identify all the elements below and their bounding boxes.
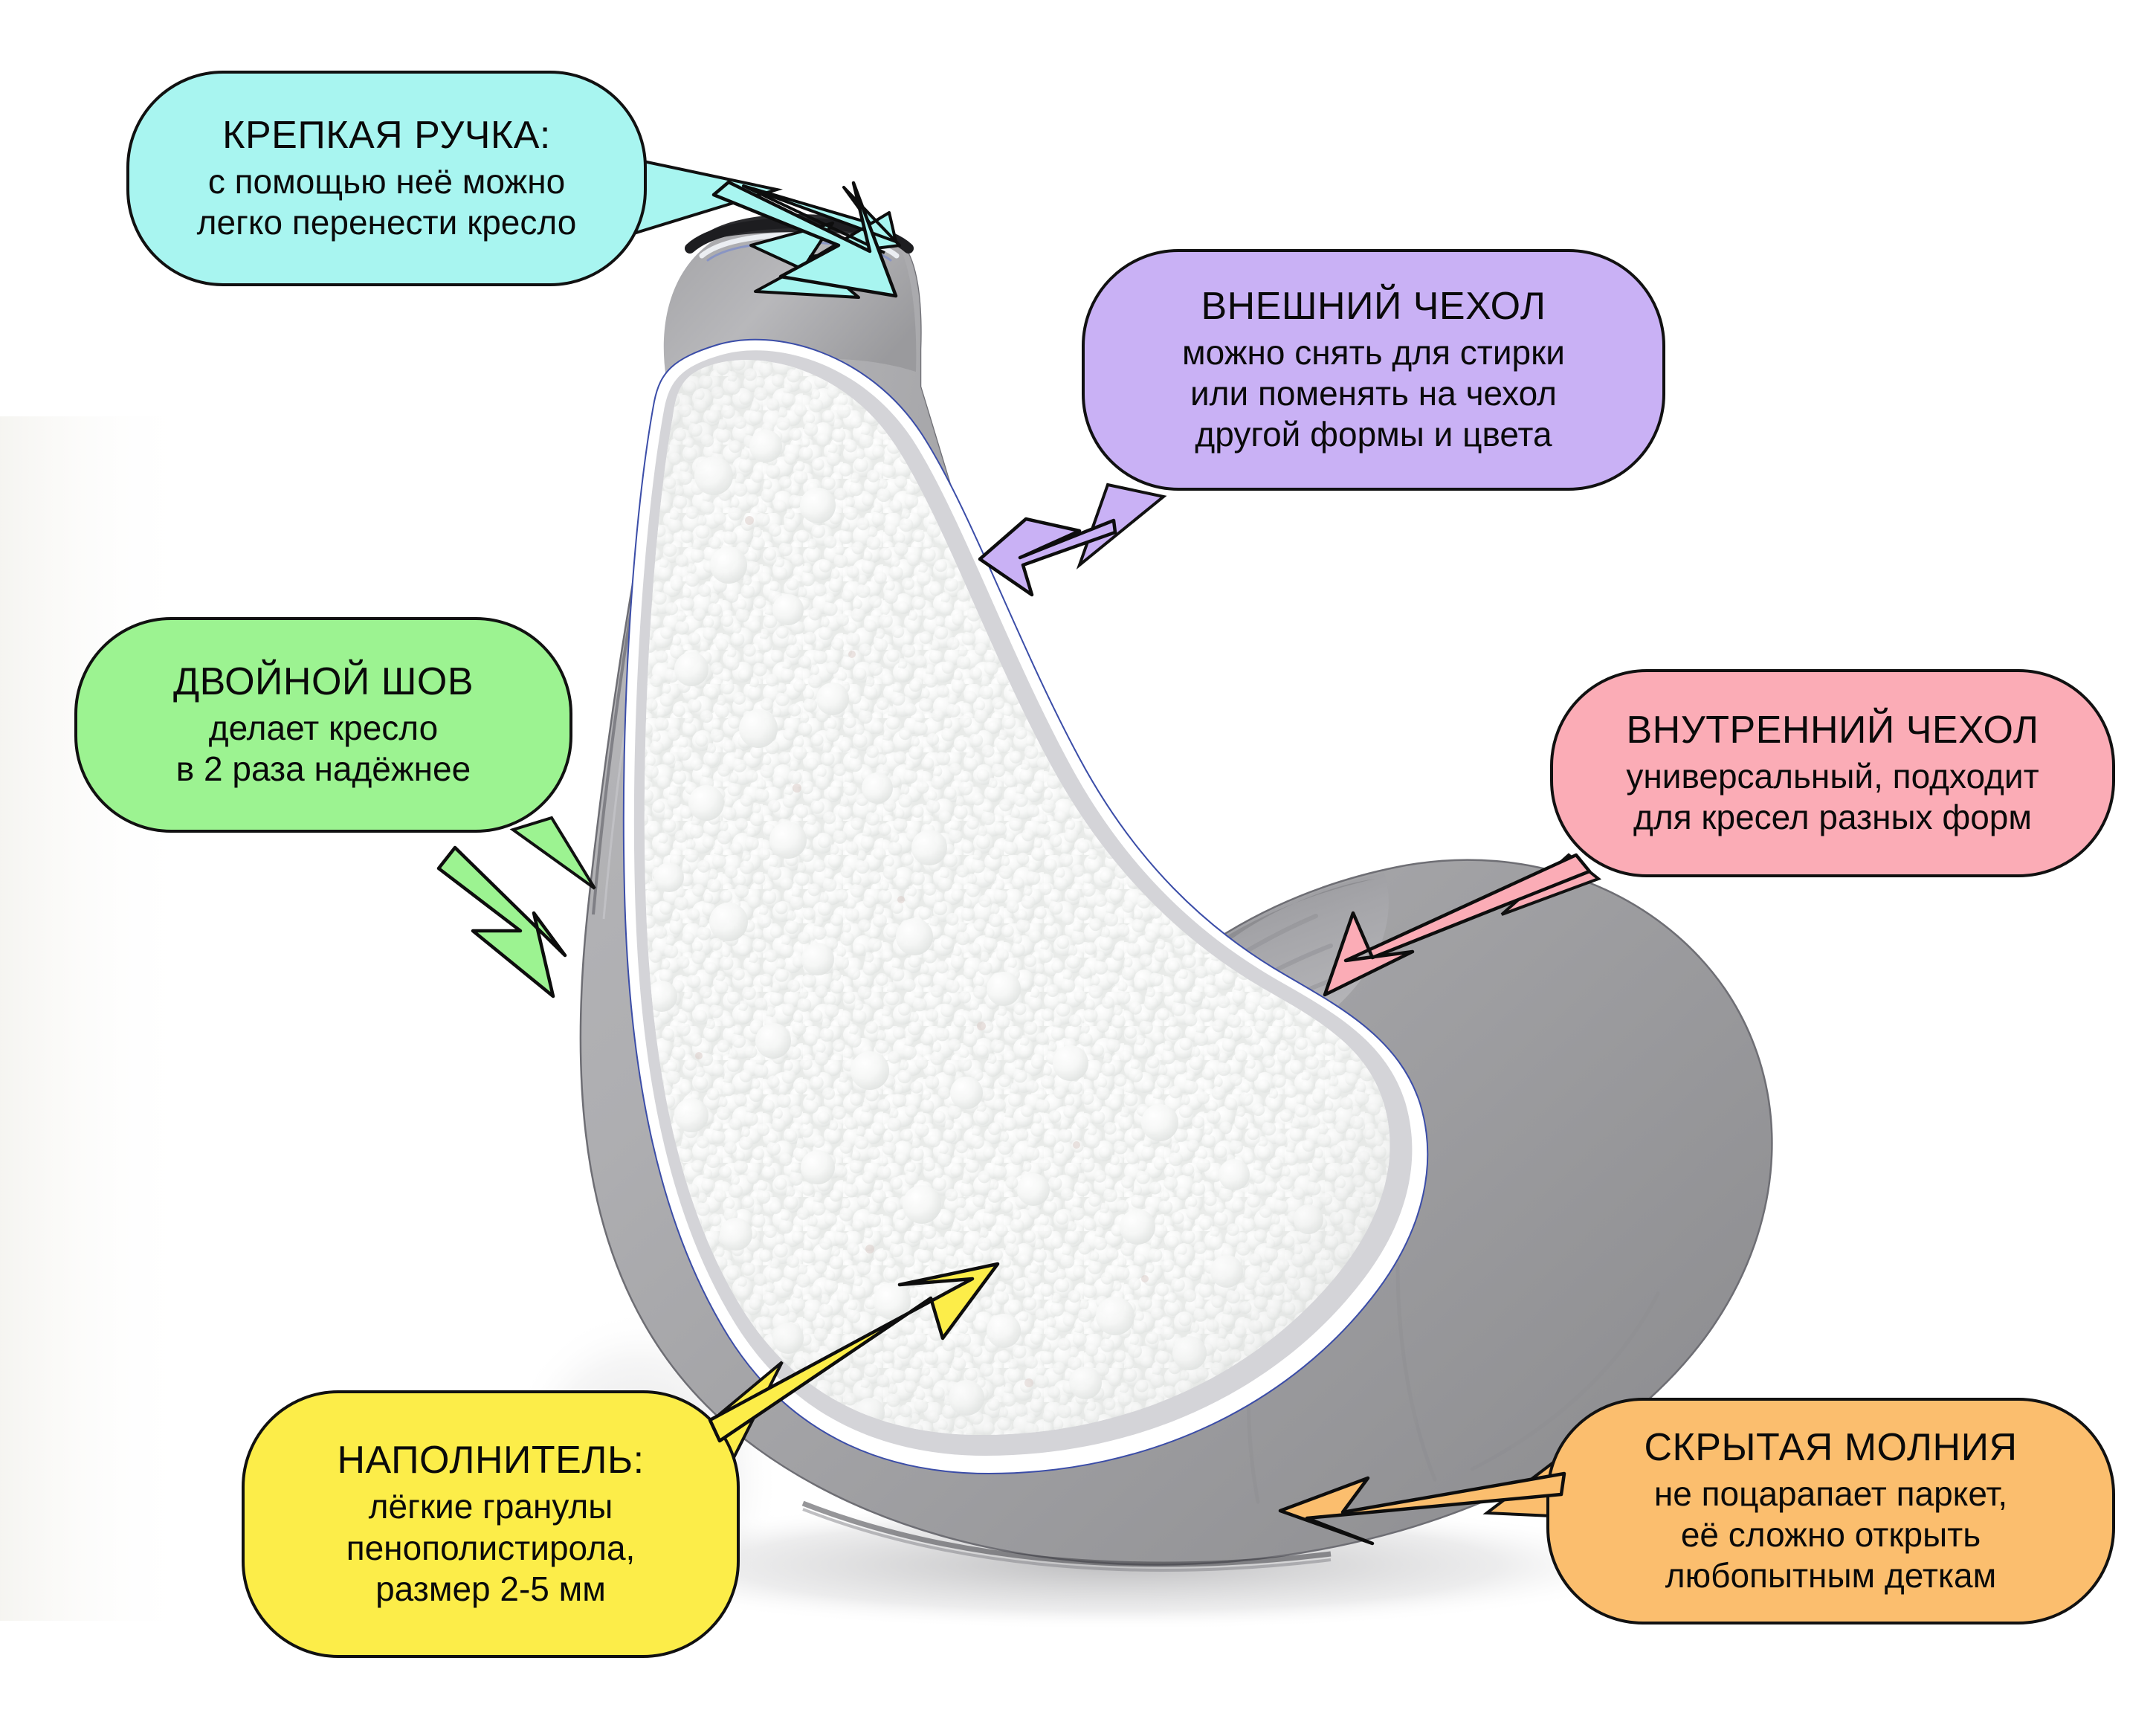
callout-outer-cover[interactable]: ВНЕШНИЙ ЧЕХОЛ можно снять для стирки или… (1082, 249, 1665, 491)
callout-double-seam-line-2: в 2 раза надёжнее (176, 749, 471, 790)
callout-handle[interactable]: КРЕПКАЯ РУЧКА: с помощью неё можно легко… (126, 71, 647, 286)
callout-outer-cover-title: ВНЕШНИЙ ЧЕХОЛ (1201, 285, 1546, 328)
callout-inner-cover-line-2: для кресел разных форм (1633, 797, 2032, 838)
callout-outer-cover-line-3: другой формы и цвета (1195, 414, 1552, 455)
callout-double-seam-line-1: делает кресло (209, 708, 438, 749)
callout-handle-line-2: легко перенести кресло (197, 202, 577, 243)
callout-double-seam[interactable]: ДВОЙНОЙ ШОВ делает кресло в 2 раза надёж… (74, 617, 572, 833)
callout-inner-cover[interactable]: ВНУТРЕННИЙ ЧЕХОЛ универсальный, подходит… (1550, 669, 2115, 877)
callout-hidden-zipper-line-2: её сложно открыть (1681, 1514, 1981, 1555)
callout-filler[interactable]: НАПОЛНИТЕЛЬ: лёгкие гранулы пенополистир… (242, 1390, 740, 1658)
callout-hidden-zipper-line-3: любопытным деткам (1665, 1555, 1997, 1596)
callout-outer-cover-line-2: или поменять на чехол (1190, 373, 1557, 414)
callout-handle-title: КРЕПКАЯ РУЧКА: (222, 114, 551, 157)
callout-hidden-zipper-line-1: не поцарапает паркет, (1654, 1474, 2007, 1514)
callout-handle-line-1: с помощью неё можно (208, 161, 565, 202)
callout-hidden-zipper[interactable]: СКРЫТАЯ МОЛНИЯ не поцарапает паркет, её … (1546, 1398, 2115, 1624)
callout-inner-cover-line-1: универсальный, подходит (1626, 756, 2039, 797)
callout-hidden-zipper-title: СКРЫТАЯ МОЛНИЯ (1644, 1426, 2017, 1469)
callout-filler-line-1: лёгкие гранулы (369, 1486, 613, 1527)
callout-filler-line-2: пенополистирола, (346, 1528, 636, 1569)
callout-filler-line-3: размер 2-5 мм (375, 1569, 606, 1610)
callout-inner-cover-title: ВНУТРЕННИЙ ЧЕХОЛ (1627, 709, 2039, 752)
callout-outer-cover-line-1: можно снять для стирки (1182, 332, 1565, 373)
infographic-canvas: КРЕПКАЯ РУЧКА: с помощью неё можно легко… (0, 0, 2156, 1710)
callout-filler-title: НАПОЛНИТЕЛЬ: (337, 1439, 644, 1482)
callout-double-seam-title: ДВОЙНОЙ ШОВ (173, 660, 474, 703)
